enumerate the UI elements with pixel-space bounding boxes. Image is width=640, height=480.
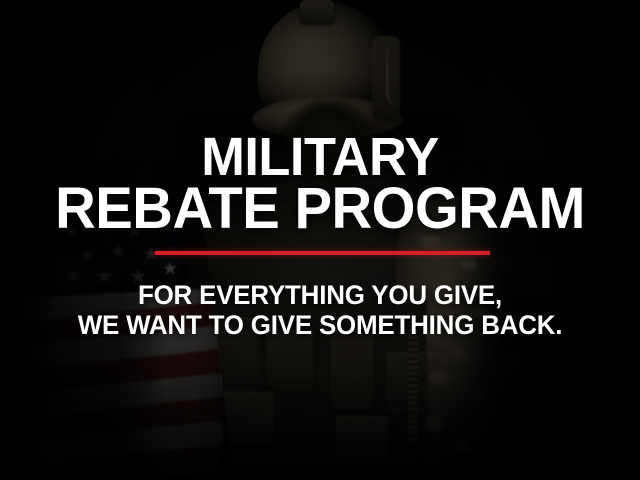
headline-line-2: REBATE PROGRAM [10, 181, 631, 238]
subheadline-line-1: FOR EVERYTHING YOU GIVE, [13, 280, 627, 312]
military-rebate-banner: MILITARY REBATE PROGRAM FOR EVERYTHING Y… [0, 0, 640, 480]
banner-content: MILITARY REBATE PROGRAM FOR EVERYTHING Y… [0, 0, 640, 480]
red-divider-rule [155, 251, 490, 255]
subheadline-line-2: WE WANT TO GIVE SOMETHING BACK. [13, 310, 627, 342]
